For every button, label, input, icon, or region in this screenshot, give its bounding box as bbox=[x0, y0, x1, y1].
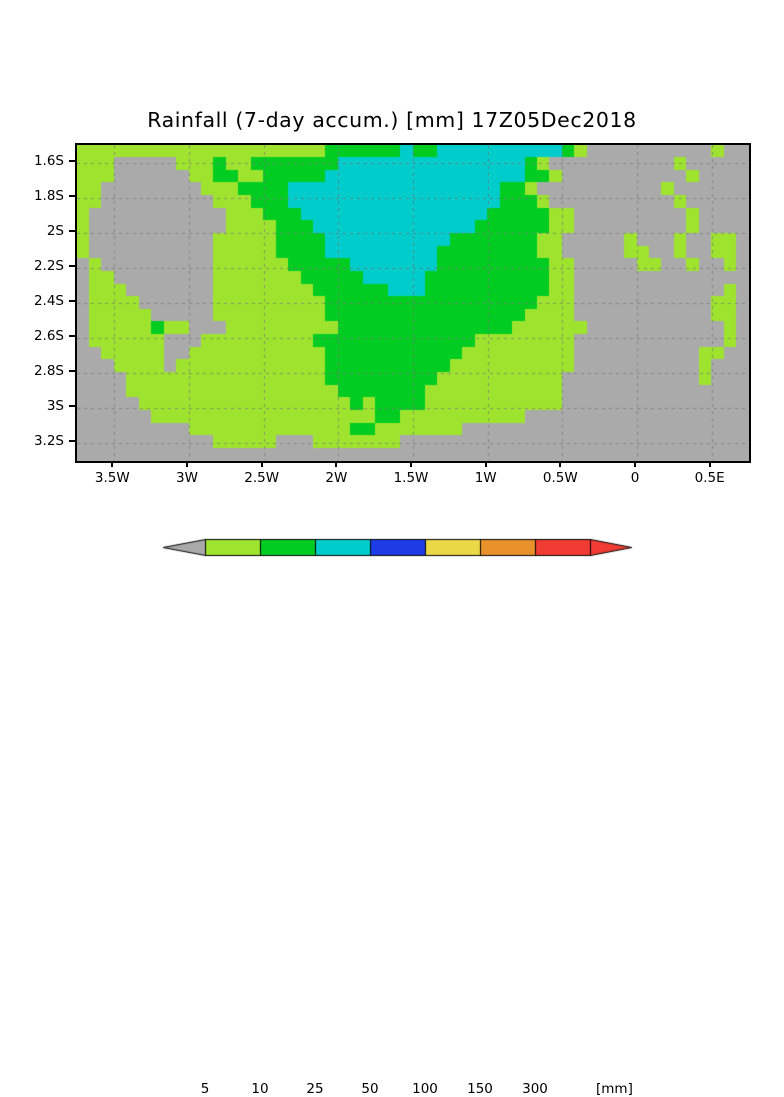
rainfall-heatmap bbox=[77, 145, 749, 461]
chart-title: Rainfall (7-day accum.) [mm] 17Z05Dec201… bbox=[0, 108, 784, 132]
colorbar-swatches bbox=[150, 525, 650, 559]
y-axis-tick bbox=[69, 405, 75, 407]
x-axis-tick-label: 0.5E bbox=[680, 470, 740, 486]
colorbar: 5102550100150300 [mm] bbox=[0, 525, 784, 585]
x-axis-tick bbox=[559, 461, 561, 467]
y-axis-tick-label: 3.2S bbox=[18, 433, 64, 449]
colorbar-tick-label: 5 bbox=[175, 1081, 235, 1097]
colorbar-tick-label: 300 bbox=[505, 1081, 565, 1097]
x-axis-tick-label: 1.5W bbox=[381, 470, 441, 486]
x-axis-tick bbox=[485, 461, 487, 467]
y-axis-tick bbox=[69, 300, 75, 302]
colorbar-tick-label: 100 bbox=[395, 1081, 455, 1097]
y-axis-tick bbox=[69, 370, 75, 372]
y-axis-tick bbox=[69, 160, 75, 162]
y-axis-tick bbox=[69, 195, 75, 197]
x-axis-tick-label: 2.5W bbox=[232, 470, 292, 486]
y-axis-tick bbox=[69, 230, 75, 232]
colorbar-tick-label: 10 bbox=[230, 1081, 290, 1097]
colorbar-tick-label: 150 bbox=[450, 1081, 510, 1097]
x-axis-tick-label: 3.5W bbox=[82, 470, 142, 486]
colorbar-tick-label: 25 bbox=[285, 1081, 345, 1097]
y-axis-tick-label: 3S bbox=[18, 398, 64, 414]
x-axis-tick bbox=[261, 461, 263, 467]
y-axis-tick-label: 2.6S bbox=[18, 328, 64, 344]
colorbar-unit-label: [mm] bbox=[596, 1081, 633, 1097]
x-axis-tick-label: 1W bbox=[456, 470, 516, 486]
y-axis-tick bbox=[69, 265, 75, 267]
y-axis-tick bbox=[69, 335, 75, 337]
x-axis-tick-label: 2W bbox=[306, 470, 366, 486]
x-axis-tick bbox=[410, 461, 412, 467]
x-axis-tick-label: 3W bbox=[157, 470, 217, 486]
x-axis-tick bbox=[186, 461, 188, 467]
y-axis-tick-label: 2.2S bbox=[18, 258, 64, 274]
y-axis-tick-label: 1.8S bbox=[18, 188, 64, 204]
colorbar-tick-label: 50 bbox=[340, 1081, 400, 1097]
x-axis-tick-label: 0.5W bbox=[530, 470, 590, 486]
x-axis-tick bbox=[335, 461, 337, 467]
y-axis-tick-label: 2.8S bbox=[18, 363, 64, 379]
y-axis-tick-label: 2.4S bbox=[18, 293, 64, 309]
x-axis-tick bbox=[634, 461, 636, 467]
x-axis-tick bbox=[111, 461, 113, 467]
figure-root: Rainfall (7-day accum.) [mm] 17Z05Dec201… bbox=[0, 0, 784, 612]
x-axis-tick bbox=[709, 461, 711, 467]
map-plot-area bbox=[75, 143, 751, 463]
y-axis-tick-label: 2S bbox=[18, 223, 64, 239]
y-axis-tick bbox=[69, 440, 75, 442]
y-axis-tick-label: 1.6S bbox=[18, 153, 64, 169]
x-axis-tick-label: 0 bbox=[605, 470, 665, 486]
